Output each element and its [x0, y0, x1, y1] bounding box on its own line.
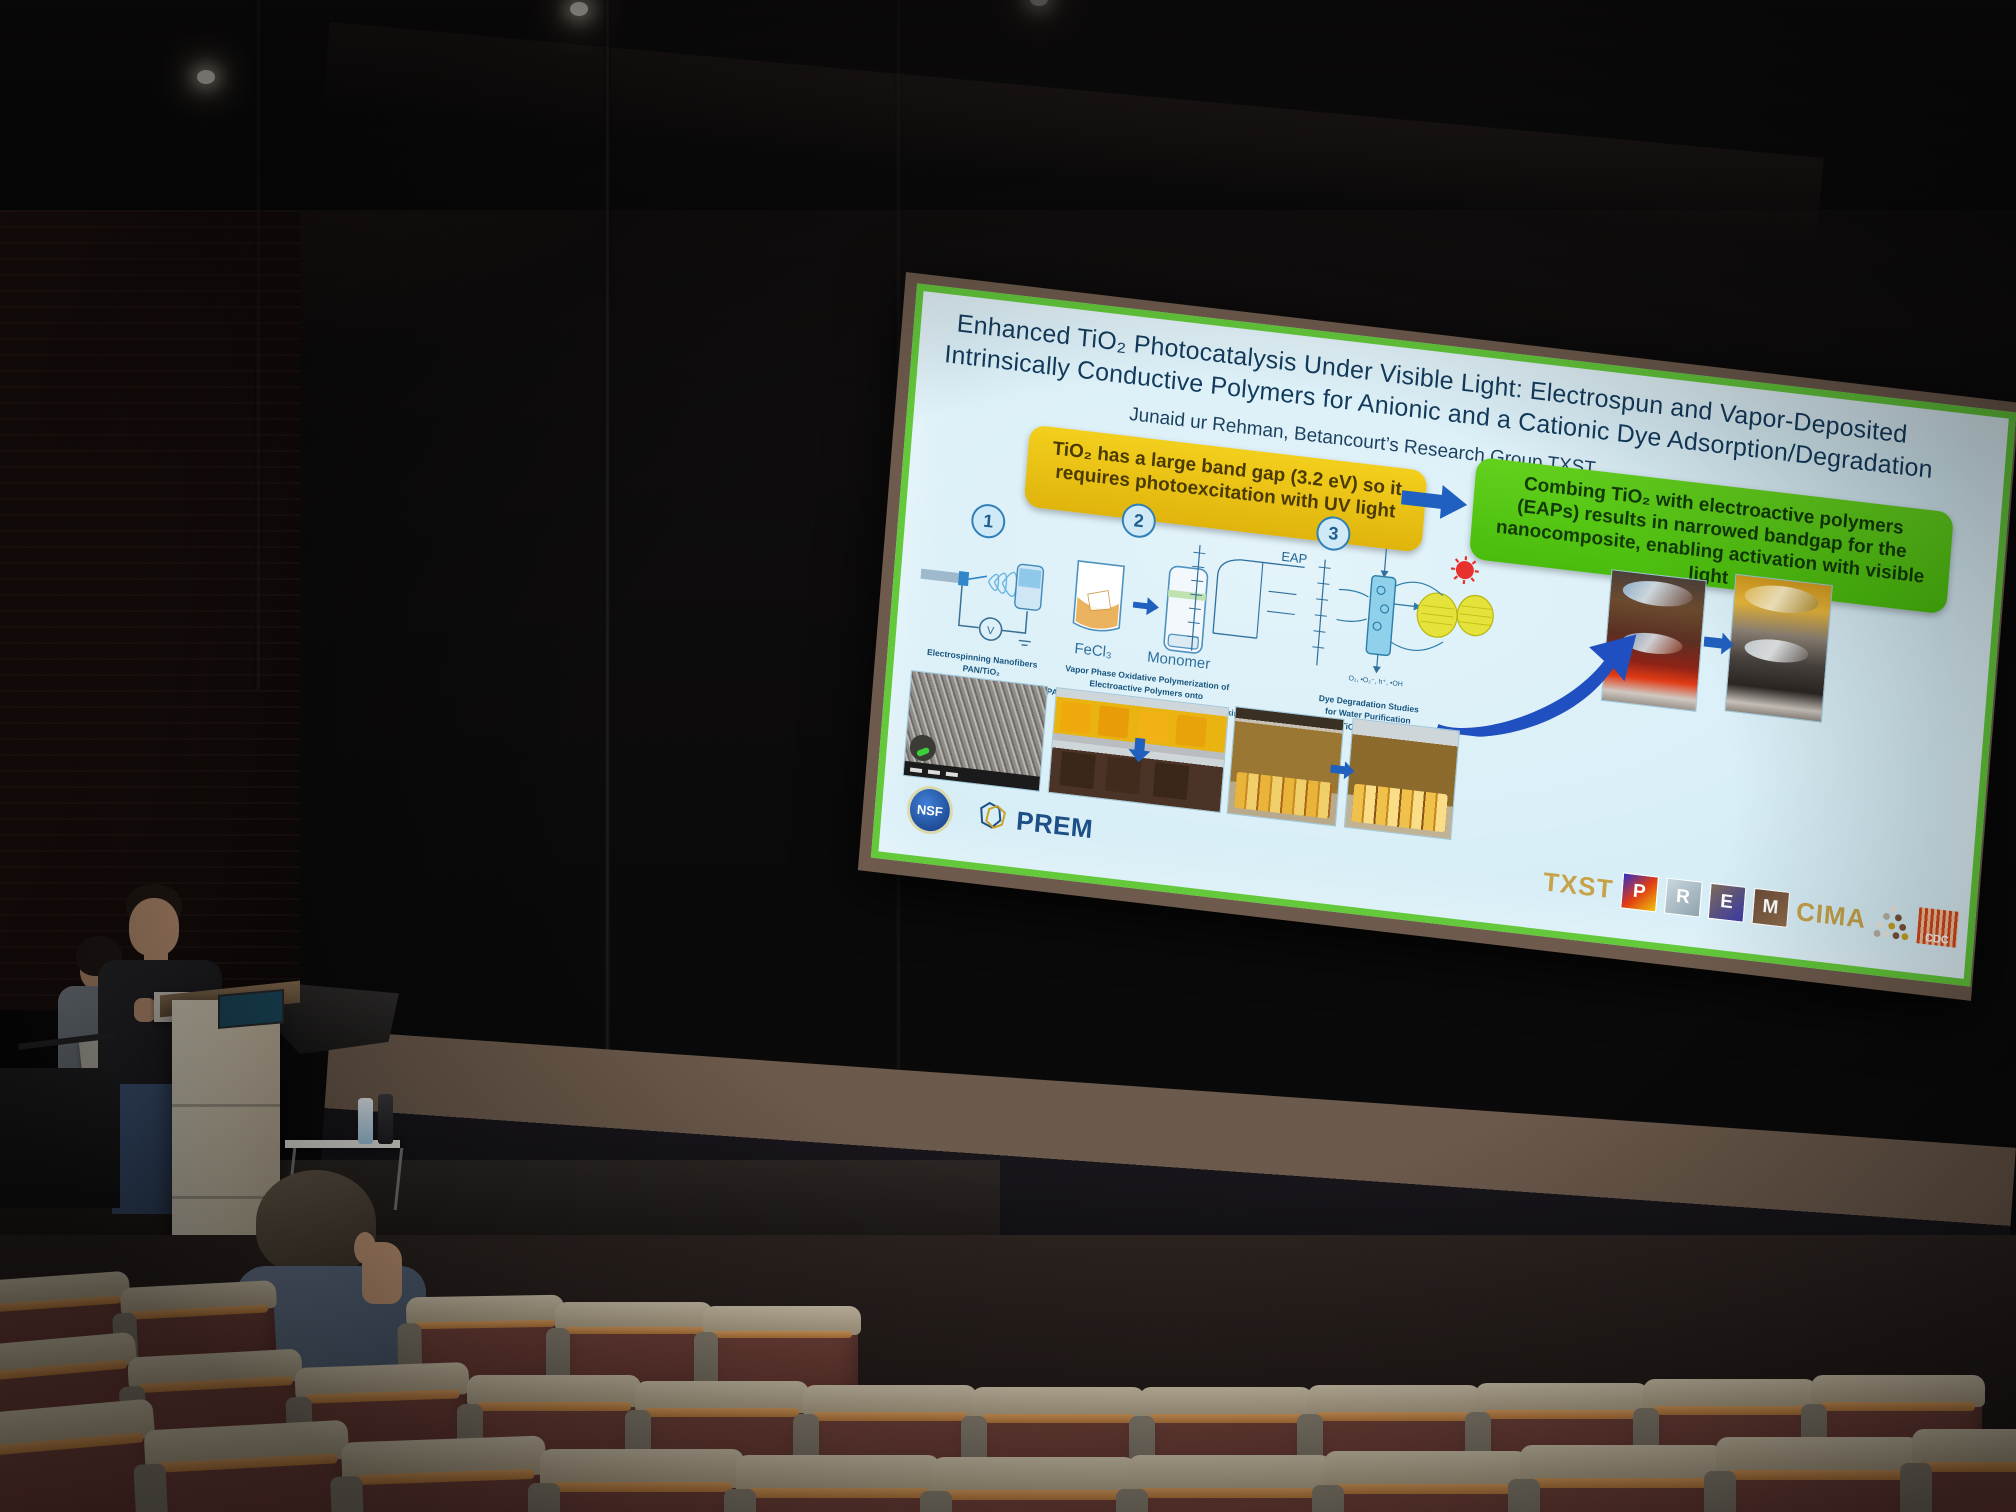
- photo-mat-before-after: [1048, 687, 1229, 813]
- prem-tile-r: R: [1664, 878, 1703, 918]
- footer-logos-left: NSF PREM: [908, 787, 1094, 850]
- molecule-logo-icon: [1873, 902, 1912, 942]
- svg-text:EAP: EAP: [1281, 549, 1308, 567]
- cdc-tile: CDC: [1916, 907, 1959, 948]
- thermos: [378, 1094, 393, 1144]
- ceiling-spotlight: [570, 2, 588, 16]
- txst-wordmark: TXST: [1542, 866, 1615, 905]
- seat: [740, 1468, 936, 1512]
- prem-tile-e: E: [1707, 883, 1746, 923]
- stage-equipment-case: [0, 1068, 120, 1208]
- photo-vials-after: [1344, 718, 1460, 840]
- arrow-down-icon: [1128, 737, 1152, 763]
- photo-vials-before: [1227, 706, 1345, 826]
- seat: [544, 1462, 740, 1512]
- vial-photo-clear: [1724, 574, 1832, 723]
- step-number-1: 1: [970, 502, 1007, 540]
- prem-hexagon-icon: [974, 799, 1011, 837]
- presenter-hand-left: [134, 998, 156, 1022]
- prem-tile-m: M: [1751, 888, 1790, 928]
- cima-wordmark: CIMA: [1795, 895, 1867, 934]
- seat: [345, 1449, 546, 1512]
- curtain-seam: [604, 0, 611, 1060]
- prem-tile-p: P: [1620, 872, 1659, 912]
- svg-text:FeCl₃: FeCl₃: [1074, 640, 1113, 661]
- big-curved-arrow-icon: [1430, 581, 1641, 754]
- seat: [1720, 1450, 1916, 1512]
- photo-sem-nanofiber: [903, 670, 1049, 792]
- callout-green: Combing TiO₂ with electroactive polymers…: [1469, 457, 1954, 615]
- arrow-between-vial-photos-icon: [1330, 760, 1355, 781]
- seat: [1916, 1442, 2016, 1512]
- nsf-logo-icon: NSF: [908, 787, 951, 834]
- confidence-monitor: [218, 989, 284, 1029]
- electrospinning-schematic-icon: V: [916, 543, 1072, 652]
- auditorium-scene: Enhanced TiO₂ Photocatalysis Under Visib…: [0, 0, 2016, 1512]
- prem-wordmark: PREM: [1015, 805, 1094, 845]
- svg-text:O₂, •O₂⁻, h⁺, •OH: O₂, •O₂⁻, h⁺, •OH: [1348, 675, 1403, 688]
- seat: [148, 1433, 352, 1512]
- footer-logos-right: TXST P R E M CIMA CDC: [1542, 863, 1959, 948]
- ceiling-spotlight: [197, 70, 215, 84]
- band-diagram-icon: EAP: [1177, 537, 1346, 675]
- svg-text:V: V: [986, 625, 995, 638]
- arrow-between-vials-icon: [1703, 630, 1735, 655]
- curtain-seam: [255, 0, 262, 690]
- seat: [1328, 1464, 1524, 1512]
- attendee-hand-on-chin: [362, 1242, 402, 1304]
- seat: [936, 1470, 1132, 1512]
- water-bottle: [358, 1098, 373, 1144]
- seat: [1524, 1458, 1720, 1512]
- seat: [1132, 1468, 1328, 1512]
